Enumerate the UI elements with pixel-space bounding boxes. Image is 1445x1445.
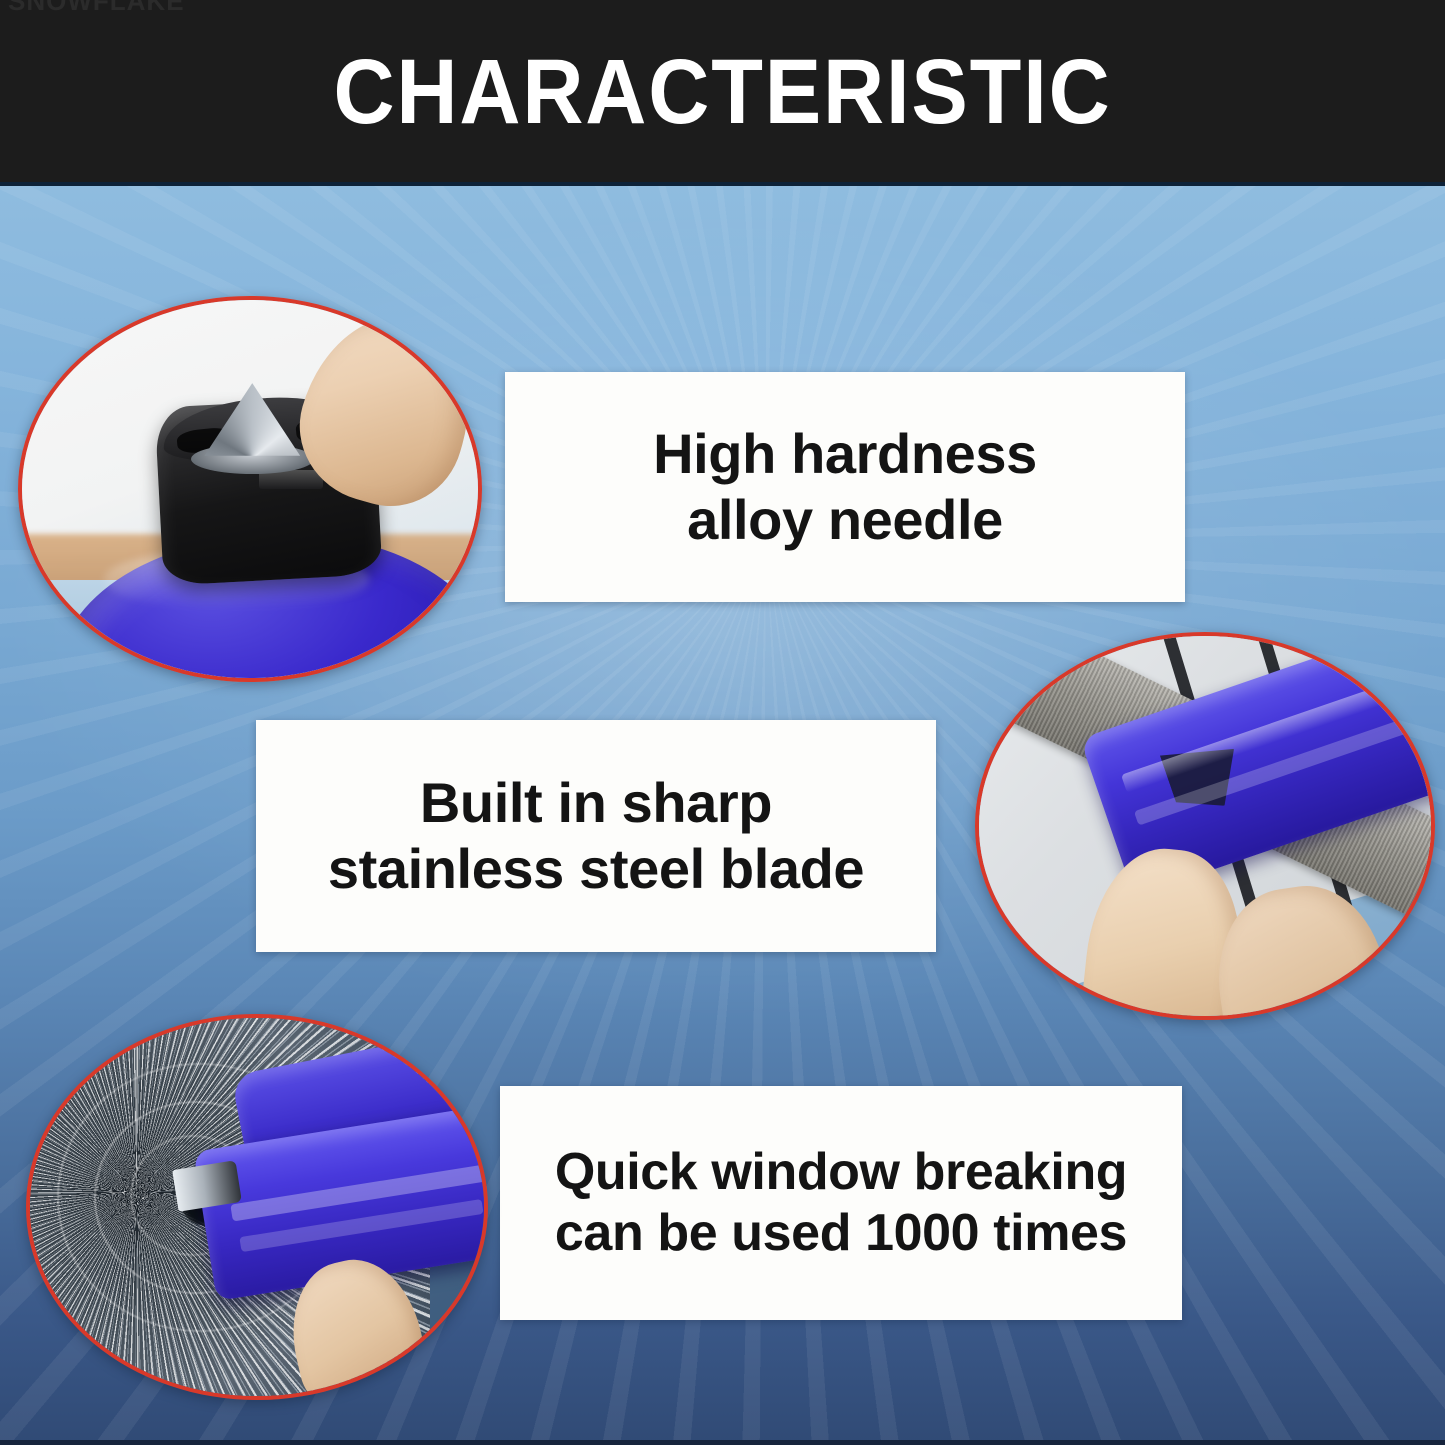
callout-panel-window-breaking: Quick window breaking can be used 1000 t… xyxy=(500,1086,1182,1320)
feature-photo-steel-blade xyxy=(975,632,1435,1020)
callout-panel-alloy-needle: High hardness alloy needle xyxy=(505,372,1185,602)
watermark-text: SNOWFLAKE xyxy=(8,0,185,17)
photo-2-content xyxy=(979,636,1431,1016)
callout-text-alloy-needle: High hardness alloy needle xyxy=(653,421,1037,552)
callout-text-window-breaking: Quick window breaking can be used 1000 t… xyxy=(555,1142,1127,1264)
photo-3-content xyxy=(30,1018,484,1396)
product-infographic: SNOWFLAKE CHARACTERISTIC High hardness a… xyxy=(0,0,1445,1445)
page-title: CHARACTERISTIC xyxy=(58,46,1387,138)
feature-photo-window-breaking xyxy=(26,1014,488,1400)
feature-photo-alloy-needle xyxy=(18,296,482,682)
header-band: SNOWFLAKE CHARACTERISTIC xyxy=(0,0,1445,186)
callout-panel-steel-blade: Built in sharp stainless steel blade xyxy=(256,720,936,952)
callout-text-steel-blade: Built in sharp stainless steel blade xyxy=(328,770,864,901)
photo-1-content xyxy=(22,300,478,678)
bottom-edge-line xyxy=(0,1440,1445,1445)
